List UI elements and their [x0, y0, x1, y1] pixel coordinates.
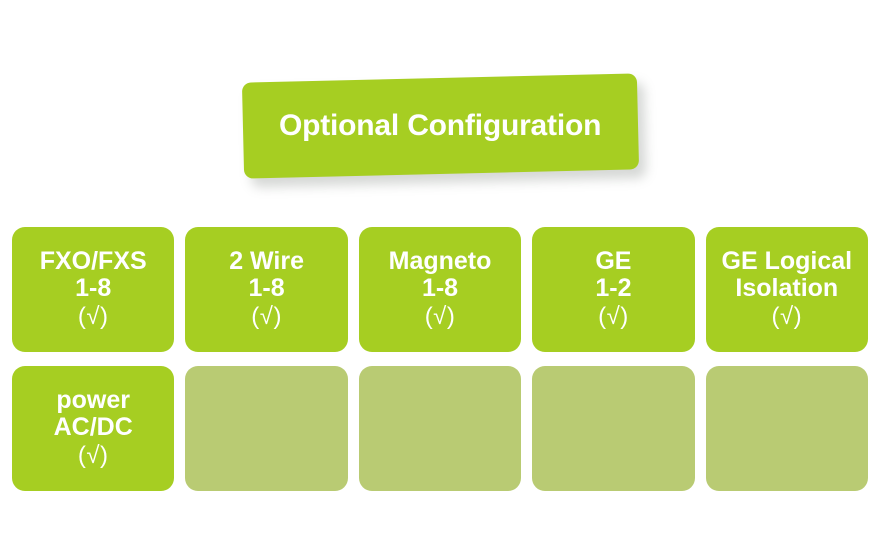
option-label-primary: 2 Wire — [229, 248, 304, 276]
title-banner: Optional Configuration — [242, 73, 639, 178]
grid-row: FXO/FXS 1-8 (√) 2 Wire 1-8 (√) Magneto 1… — [12, 227, 868, 352]
option-cell-ge[interactable]: GE 1-2 (√) — [532, 227, 694, 352]
option-label-secondary: 1-8 — [249, 275, 285, 303]
page-title: Optional Configuration — [279, 109, 601, 143]
option-label-secondary: AC/DC — [54, 414, 133, 442]
option-cell-fxo-fxs[interactable]: FXO/FXS 1-8 (√) — [12, 227, 174, 352]
option-label-primary: GE Logical — [722, 248, 853, 276]
option-cell-ge-logical-isolation[interactable]: GE Logical Isolation (√) — [706, 227, 868, 352]
option-cell-placeholder-2[interactable] — [359, 366, 521, 491]
option-check-mark: (√) — [251, 303, 282, 331]
option-check-mark: (√) — [78, 442, 109, 470]
option-label-secondary: Isolation — [735, 275, 838, 303]
option-check-mark: (√) — [425, 303, 456, 331]
option-cell-placeholder-3[interactable] — [532, 366, 694, 491]
option-label-primary: FXO/FXS — [40, 248, 147, 276]
option-cell-placeholder-4[interactable] — [706, 366, 868, 491]
grid-row: power AC/DC (√) — [12, 366, 868, 491]
option-cell-magneto[interactable]: Magneto 1-8 (√) — [359, 227, 521, 352]
option-cell-placeholder-1[interactable] — [185, 366, 347, 491]
title-banner-container: Optional Configuration — [243, 78, 638, 174]
option-cell-power-ac-dc[interactable]: power AC/DC (√) — [12, 366, 174, 491]
option-check-mark: (√) — [772, 303, 803, 331]
option-label-secondary: 1-8 — [422, 275, 458, 303]
option-cell-2-wire[interactable]: 2 Wire 1-8 (√) — [185, 227, 347, 352]
option-check-mark: (√) — [598, 303, 629, 331]
optional-configuration-grid: FXO/FXS 1-8 (√) 2 Wire 1-8 (√) Magneto 1… — [12, 227, 868, 491]
option-label-primary: GE — [595, 248, 631, 276]
option-label-primary: Magneto — [389, 248, 492, 276]
option-check-mark: (√) — [78, 303, 109, 331]
option-label-secondary: 1-2 — [595, 275, 631, 303]
option-label-primary: power — [56, 387, 130, 415]
option-label-secondary: 1-8 — [75, 275, 111, 303]
